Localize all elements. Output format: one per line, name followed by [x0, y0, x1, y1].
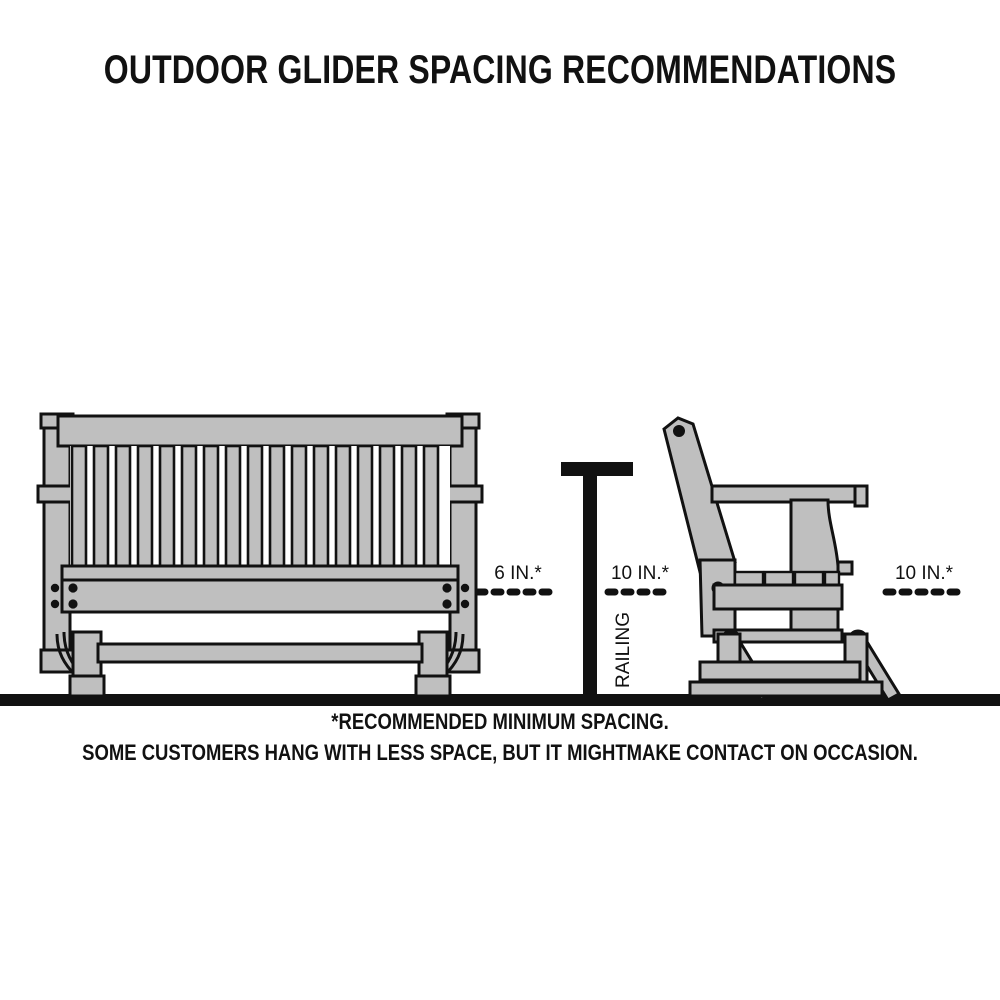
glider-side-view [664, 418, 899, 700]
glider-armrest-end [855, 486, 867, 506]
bench-seat-rail [62, 580, 458, 612]
glider-bench-front-view [38, 414, 482, 696]
dimension-label-6in: 6 IN.* [478, 563, 558, 585]
dimension-label-10in-right: 10 IN.* [884, 563, 964, 585]
bench-base-foot-left [70, 676, 104, 696]
bench-back-slats [70, 446, 450, 568]
glider-seat-slats [735, 572, 839, 585]
glider-base-rail [700, 662, 860, 680]
glider-armrest [712, 486, 865, 502]
railing-post-shaft [583, 470, 597, 700]
glider-seat-rail [714, 585, 842, 609]
glider-base-foot [690, 682, 882, 696]
bench-top-rail [58, 416, 462, 446]
glider-front-post [791, 500, 838, 640]
bench-post-right [450, 424, 476, 670]
railing-label: RAILING [613, 612, 635, 688]
footnote-line-1: *RECOMMENDED MINIMUM SPACING. [80, 706, 920, 737]
bench-base-foot-right [416, 676, 450, 696]
footnotes: *RECOMMENDED MINIMUM SPACING. SOME CUSTO… [0, 706, 1000, 768]
bench-seat-rail-top [62, 566, 458, 580]
bench-post-left [44, 424, 70, 670]
dimension-label-10in-left: 10 IN.* [600, 563, 680, 585]
glider-backrest-pivot-top [673, 425, 685, 437]
diagram-page: OUTDOOR GLIDER SPACING RECOMMENDATIONS .… [0, 0, 1000, 1000]
footnote-line-2: SOME CUSTOMERS HANG WITH LESS SPACE, BUT… [80, 737, 920, 768]
bench-base-stretcher [98, 644, 422, 662]
glider-spacing-drawing: .pt { fill:#BFBFBF; stroke:#111111; stro… [0, 0, 1000, 1000]
